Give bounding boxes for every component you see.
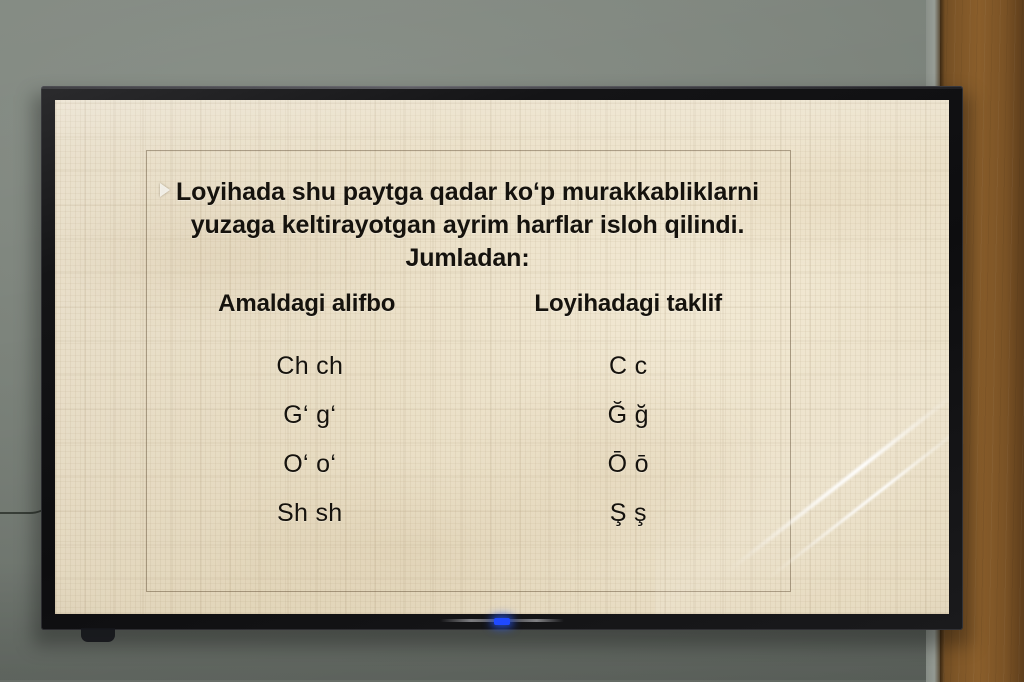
table-row: C c xyxy=(468,342,790,391)
television: Loyihada shu paytga qadar ko‘p murakkabl… xyxy=(41,86,963,630)
column-header-proposed: Loyihadagi taklif xyxy=(468,290,790,318)
tv-screen: Loyihada shu paytga qadar ko‘p murakkabl… xyxy=(55,100,949,614)
table-row: Ş ş xyxy=(468,489,790,538)
current-alphabet-rows: Ch ch G‘ g‘ O‘ o‘ Sh sh xyxy=(146,342,468,538)
bezel-top-highlight xyxy=(41,86,963,89)
table-row: Ō ō xyxy=(468,440,790,489)
tv-wall-mount-bracket xyxy=(81,628,115,642)
slide-content: Loyihada shu paytga qadar ko‘p murakkabl… xyxy=(146,150,789,590)
slide-headline: Loyihada shu paytga qadar ko‘p murakkabl… xyxy=(146,176,789,275)
table-row: O‘ o‘ xyxy=(146,440,468,489)
headline-line-3: Jumladan: xyxy=(146,242,789,275)
column-header-current: Amaldagi alifbo xyxy=(146,290,468,318)
headline-line-2: yuzaga keltirayotgan ayrim harflar isloh… xyxy=(146,209,789,242)
table-row: G‘ g‘ xyxy=(146,391,468,440)
tv-power-led xyxy=(494,618,510,625)
table-row: Ch ch xyxy=(146,342,468,391)
table-row: Sh sh xyxy=(146,489,468,538)
proposed-alphabet-rows: C c Ğ ğ Ō ō Ş ş xyxy=(468,342,790,538)
column-current-alphabet: Amaldagi alifbo Ch ch G‘ g‘ O‘ o‘ Sh sh xyxy=(146,290,468,538)
table-row: Ğ ğ xyxy=(468,391,790,440)
headline-line-1: Loyihada shu paytga qadar ko‘p murakkabl… xyxy=(146,176,789,209)
column-proposed-alphabet: Loyihadagi taklif C c Ğ ğ Ō ō Ş ş xyxy=(468,290,790,538)
alphabet-comparison-table: Amaldagi alifbo Ch ch G‘ g‘ O‘ o‘ Sh sh … xyxy=(146,290,789,538)
tv-bezel: Loyihada shu paytga qadar ko‘p murakkabl… xyxy=(41,86,963,630)
